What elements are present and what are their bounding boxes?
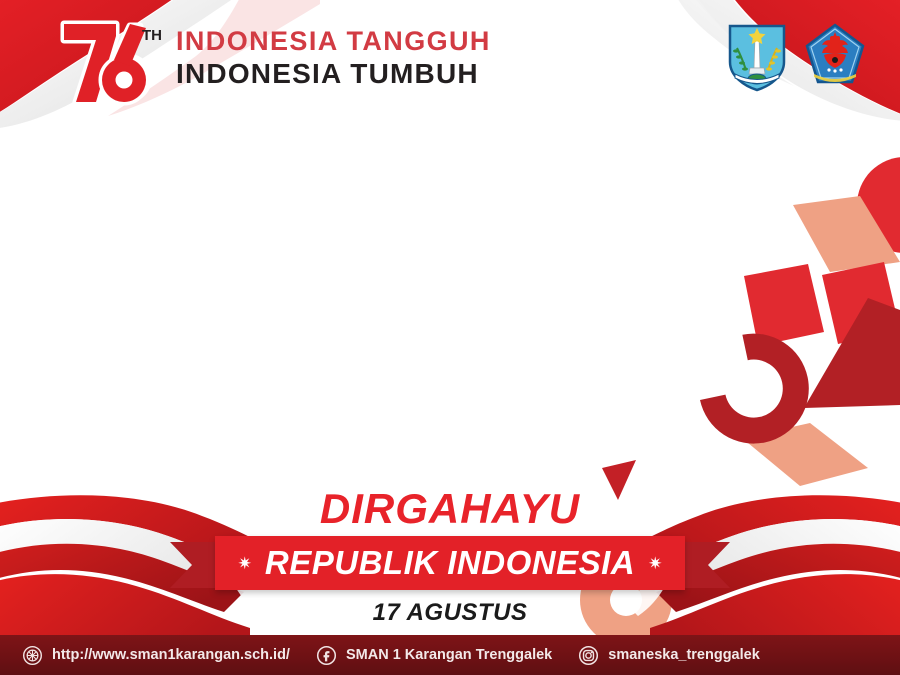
greeting-ribbon: ✷ REPUBLIK INDONESIA ✷ bbox=[170, 536, 730, 590]
east-java-province-emblem bbox=[726, 22, 788, 92]
greeting-dirgahayu: DIRGAHAYU bbox=[0, 488, 900, 530]
footer-instagram-label: smaneska_trenggalek bbox=[608, 647, 760, 663]
poster-canvas: TH INDONESIA TANGGUH INDONESIA TUMBUH bbox=[0, 0, 900, 675]
globe-icon bbox=[22, 645, 43, 666]
footer-website[interactable]: http://www.sman1karangan.sch.id/ bbox=[22, 645, 290, 666]
footer-facebook-label: SMAN 1 Karangan Trenggalek bbox=[346, 647, 552, 663]
footer-facebook[interactable]: SMAN 1 Karangan Trenggalek bbox=[316, 645, 552, 666]
ribbon-band: ✷ REPUBLIK INDONESIA ✷ bbox=[215, 536, 685, 590]
instagram-icon bbox=[578, 645, 599, 666]
facebook-icon bbox=[316, 645, 337, 666]
ribbon-star-left: ✷ bbox=[238, 555, 252, 572]
emblem-group bbox=[726, 22, 866, 92]
greeting-republik-indonesia: REPUBLIK INDONESIA bbox=[265, 544, 635, 582]
education-office-emblem bbox=[804, 22, 866, 92]
greeting-block: DIRGAHAYU ✷ REPUBLIK INDONESIA ✷ 17 AGUS… bbox=[0, 488, 900, 627]
footer-bar: http://www.sman1karangan.sch.id/ SMAN 1 … bbox=[0, 635, 900, 675]
ribbon-star-right: ✷ bbox=[648, 555, 662, 572]
greeting-date: 17 AGUSTUS bbox=[0, 599, 900, 627]
footer-instagram[interactable]: smaneska_trenggalek bbox=[578, 645, 760, 666]
footer-website-label: http://www.sman1karangan.sch.id/ bbox=[52, 647, 290, 663]
